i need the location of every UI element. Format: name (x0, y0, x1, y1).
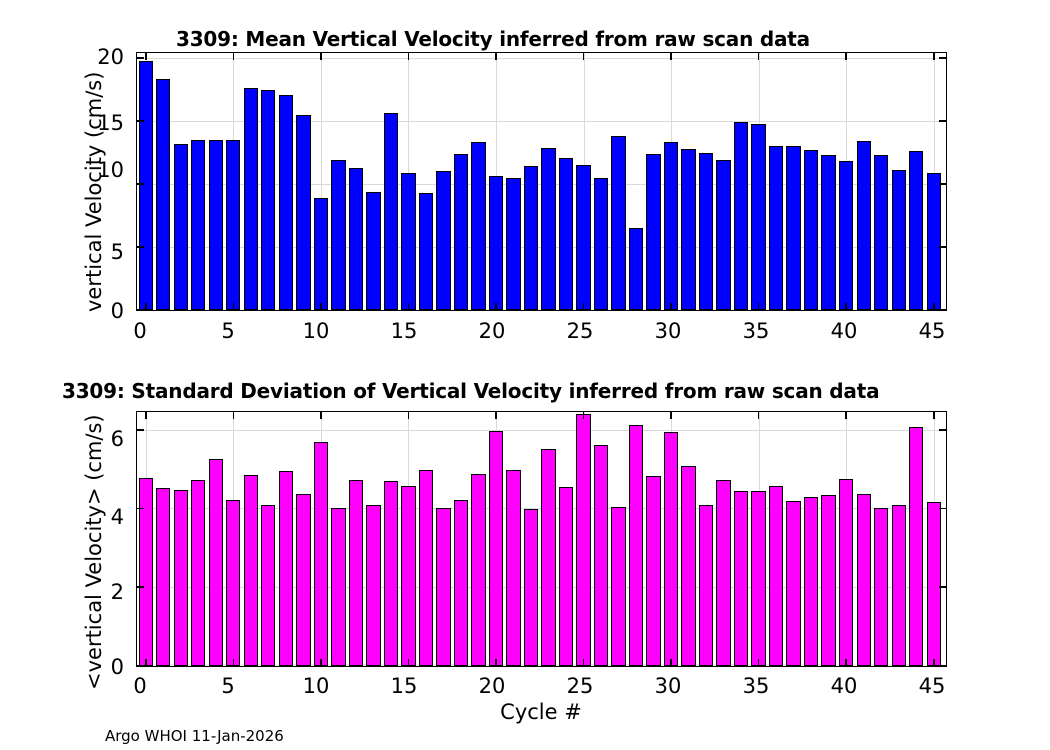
mean-xtick-mark (933, 303, 935, 310)
mean-xtick-35: 35 (736, 319, 776, 343)
mean-ytick-0: 0 (24, 299, 124, 323)
std-ytick-mark (137, 508, 144, 510)
std-xtick-35: 35 (736, 674, 776, 698)
mean-xtick-mark (583, 303, 585, 310)
mean-xtick-mark (845, 303, 847, 310)
std-xtick-20: 20 (472, 674, 512, 698)
std-xtick-30: 30 (648, 674, 688, 698)
std-ytick-0: 0 (24, 655, 124, 679)
mean-ytick-mark (939, 309, 946, 310)
std-ytick-mark (939, 586, 946, 588)
std-plot-title: 3309: Standard Deviation of Vertical Vel… (62, 379, 879, 403)
mean-xtick-mark (845, 53, 847, 60)
std-ytick-mark (137, 586, 144, 588)
std-xtick-5: 5 (208, 674, 248, 698)
std-xtick-mark (758, 659, 760, 666)
figure-footer-note: Argo WHOI 11-Jan-2026 (105, 727, 284, 745)
mean-xtick-mark (145, 303, 147, 310)
mean-xtick-mark (758, 53, 760, 60)
mean-ytick-5: 5 (24, 240, 124, 264)
mean-xtick-25: 25 (560, 319, 600, 343)
mean-ytick-mark (939, 57, 946, 59)
mean-xtick-45: 45 (912, 319, 952, 343)
figure-canvas: 3309: Mean Vertical Velocity inferred fr… (0, 0, 1050, 750)
mean-xtick-mark (583, 53, 585, 60)
mean-xtick-mark (495, 303, 497, 310)
std-xtick-mark (933, 659, 935, 666)
std-xtick-mark (583, 412, 585, 419)
std-xtick-mark (758, 412, 760, 419)
std-ytick-4: 4 (24, 505, 124, 529)
mean-xtick-mark (233, 303, 235, 310)
mean-xtick-mark (758, 303, 760, 310)
std-xtick-25: 25 (560, 674, 600, 698)
mean-ytick-mark (137, 183, 144, 185)
mean-ytick-mark (137, 57, 144, 59)
std-xtick-mark (583, 659, 585, 666)
mean-xtick-15: 15 (384, 319, 424, 343)
mean-xtick-mark (670, 53, 672, 60)
mean-ytick-15: 15 (24, 111, 124, 135)
mean-xtick-mark (145, 53, 147, 60)
mean-ticks-layer (137, 53, 946, 310)
mean-ytick-10: 10 (24, 158, 124, 182)
std-xtick-mark (233, 659, 235, 666)
mean-ytick-mark (137, 246, 144, 248)
std-xtick-mark (408, 659, 410, 666)
std-ytick-mark (939, 665, 946, 666)
std-xtick-mark (495, 412, 497, 419)
mean-xtick-10: 10 (296, 319, 336, 343)
std-xtick-mark (933, 412, 935, 419)
std-xtick-mark (845, 412, 847, 419)
std-xtick-mark (408, 412, 410, 419)
std-ytick-mark (939, 508, 946, 510)
mean-ytick-20: 20 (24, 45, 124, 69)
std-ytick-2: 2 (24, 580, 124, 604)
mean-ytick-mark (939, 246, 946, 248)
std-xtick-45: 45 (912, 674, 952, 698)
mean-xtick-mark (320, 53, 322, 60)
mean-xtick-0: 0 (120, 319, 160, 343)
std-xtick-mark (845, 659, 847, 666)
mean-xtick-30: 30 (648, 319, 688, 343)
mean-xtick-20: 20 (472, 319, 512, 343)
std-ticks-layer (137, 412, 946, 666)
std-xtick-mark (320, 659, 322, 666)
mean-xtick-mark (408, 303, 410, 310)
std-xtick-40: 40 (824, 674, 864, 698)
std-x-axis-label: Cycle # (436, 700, 646, 724)
std-ytick-mark (939, 429, 946, 431)
std-xtick-mark (145, 659, 147, 666)
mean-ytick-mark (137, 120, 144, 122)
std-xtick-mark (320, 412, 322, 419)
mean-ytick-mark (137, 309, 144, 310)
std-velocity-plot-area (136, 411, 947, 667)
mean-plot-title: 3309: Mean Vertical Velocity inferred fr… (176, 27, 810, 51)
std-ytick-6: 6 (24, 427, 124, 451)
mean-y-axis-label: vertical Velocity (cm/s) (82, 72, 106, 312)
mean-xtick-mark (320, 303, 322, 310)
std-ytick-mark (137, 665, 144, 666)
mean-xtick-mark (670, 303, 672, 310)
std-xtick-mark (670, 412, 672, 419)
mean-ytick-mark (939, 120, 946, 122)
std-xtick-0: 0 (120, 674, 160, 698)
std-xtick-mark (495, 659, 497, 666)
mean-xtick-mark (233, 53, 235, 60)
std-xtick-mark (145, 412, 147, 419)
mean-velocity-plot-area (136, 52, 947, 311)
mean-ytick-mark (939, 183, 946, 185)
mean-xtick-mark (408, 53, 410, 60)
std-xtick-mark (670, 659, 672, 666)
std-xtick-mark (233, 412, 235, 419)
std-xtick-15: 15 (384, 674, 424, 698)
std-ytick-mark (137, 429, 144, 431)
mean-xtick-mark (933, 53, 935, 60)
mean-xtick-mark (495, 53, 497, 60)
mean-xtick-5: 5 (208, 319, 248, 343)
std-y-axis-label: <vertical Velocity> (cm/s) (82, 414, 106, 690)
mean-xtick-40: 40 (824, 319, 864, 343)
std-xtick-10: 10 (296, 674, 336, 698)
